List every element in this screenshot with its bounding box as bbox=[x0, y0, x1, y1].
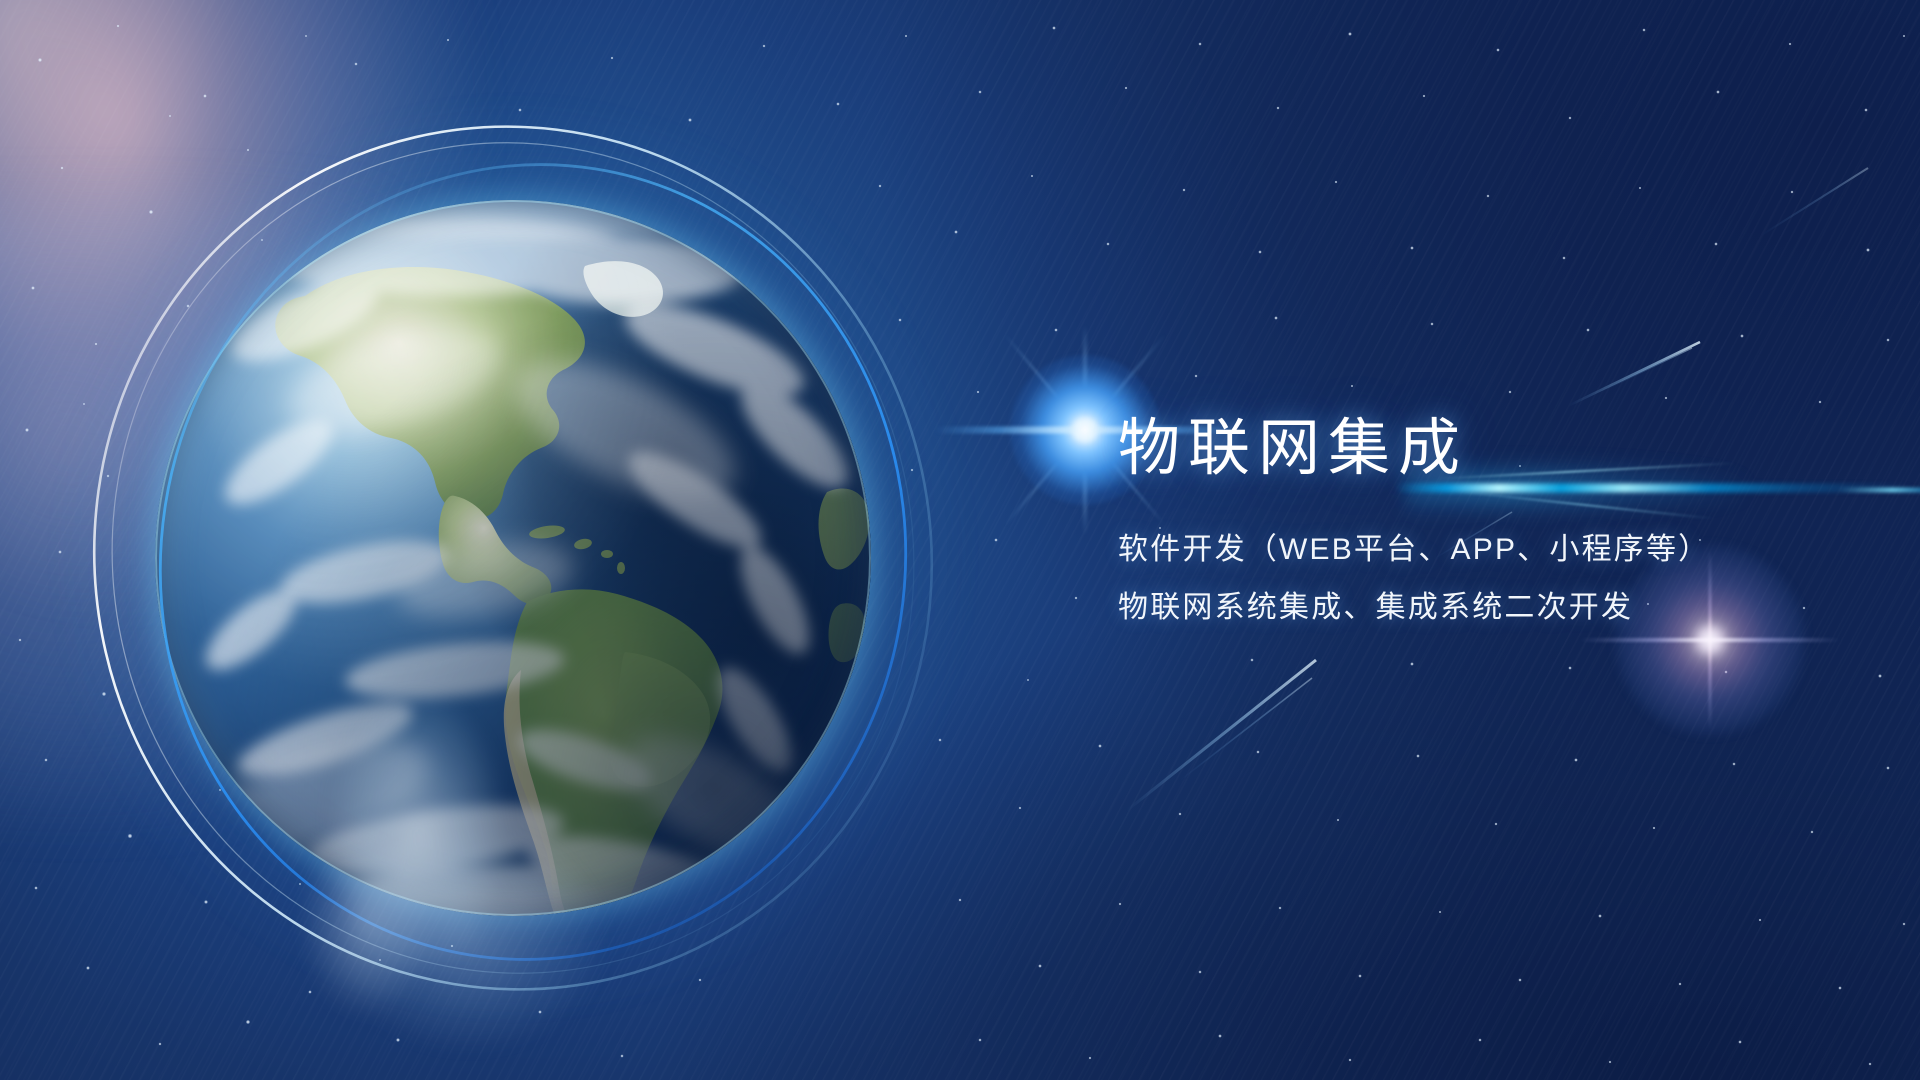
page-title: 物联网集成 bbox=[1118, 418, 1838, 480]
subtitle-line-1: 软件开发（WEB平台、APP、小程序等） bbox=[1118, 535, 1838, 565]
globe-sphere bbox=[155, 200, 871, 916]
subtitle-line-2: 物联网系统集成、集成系统二次开发 bbox=[1118, 593, 1838, 623]
hero-banner: 物联网集成 软件开发（WEB平台、APP、小程序等） 物联网系统集成、集成系统二… bbox=[0, 0, 1920, 1080]
hero-copy: 物联网集成 软件开发（WEB平台、APP、小程序等） 物联网系统集成、集成系统二… bbox=[1118, 418, 1838, 623]
earth-globe bbox=[155, 200, 871, 916]
globe-edge-rim bbox=[155, 200, 871, 916]
